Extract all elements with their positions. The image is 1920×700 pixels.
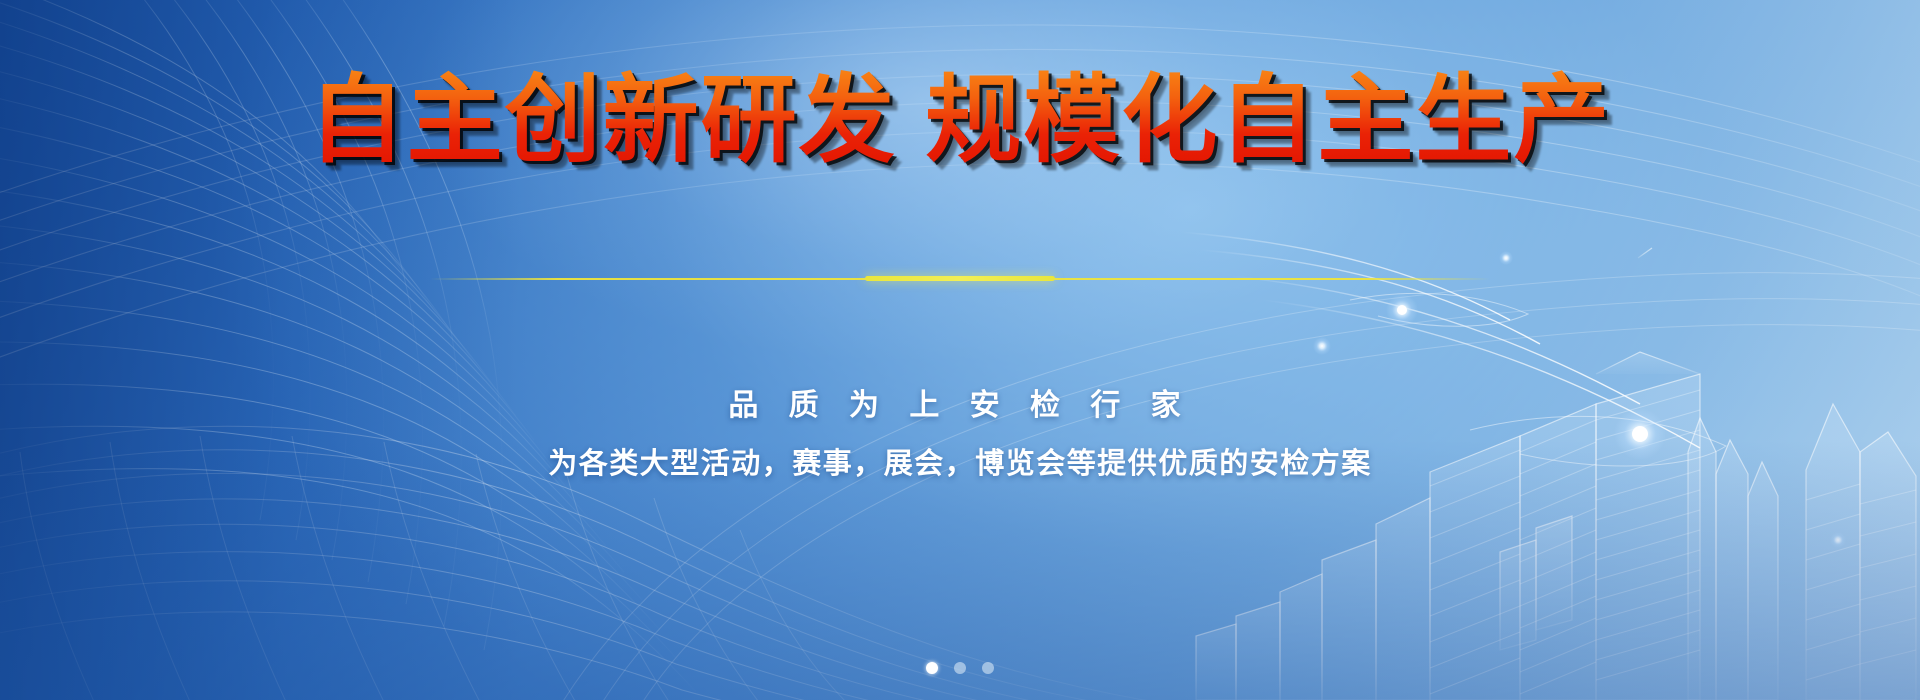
banner-subtitle-secondary: 为各类大型活动，赛事，展会，博览会等提供优质的安检方案	[0, 440, 1920, 482]
banner-headline: 自主创新研发 规模化自主生产	[0, 62, 1920, 179]
carousel-dot-1[interactable]	[926, 662, 938, 674]
divider-core	[865, 276, 1055, 281]
banner-content: 自主创新研发 规模化自主生产 品 质 为 上 安 检 行 家 为各类大型活动，赛…	[0, 0, 1920, 700]
carousel-dots	[926, 662, 994, 674]
divider	[430, 276, 1490, 281]
hero-banner: 自主创新研发 规模化自主生产 品 质 为 上 安 检 行 家 为各类大型活动，赛…	[0, 0, 1920, 700]
banner-subtitle-primary: 品 质 为 上 安 检 行 家	[0, 380, 1920, 424]
carousel-dot-3[interactable]	[982, 662, 994, 674]
carousel-dot-2[interactable]	[954, 662, 966, 674]
